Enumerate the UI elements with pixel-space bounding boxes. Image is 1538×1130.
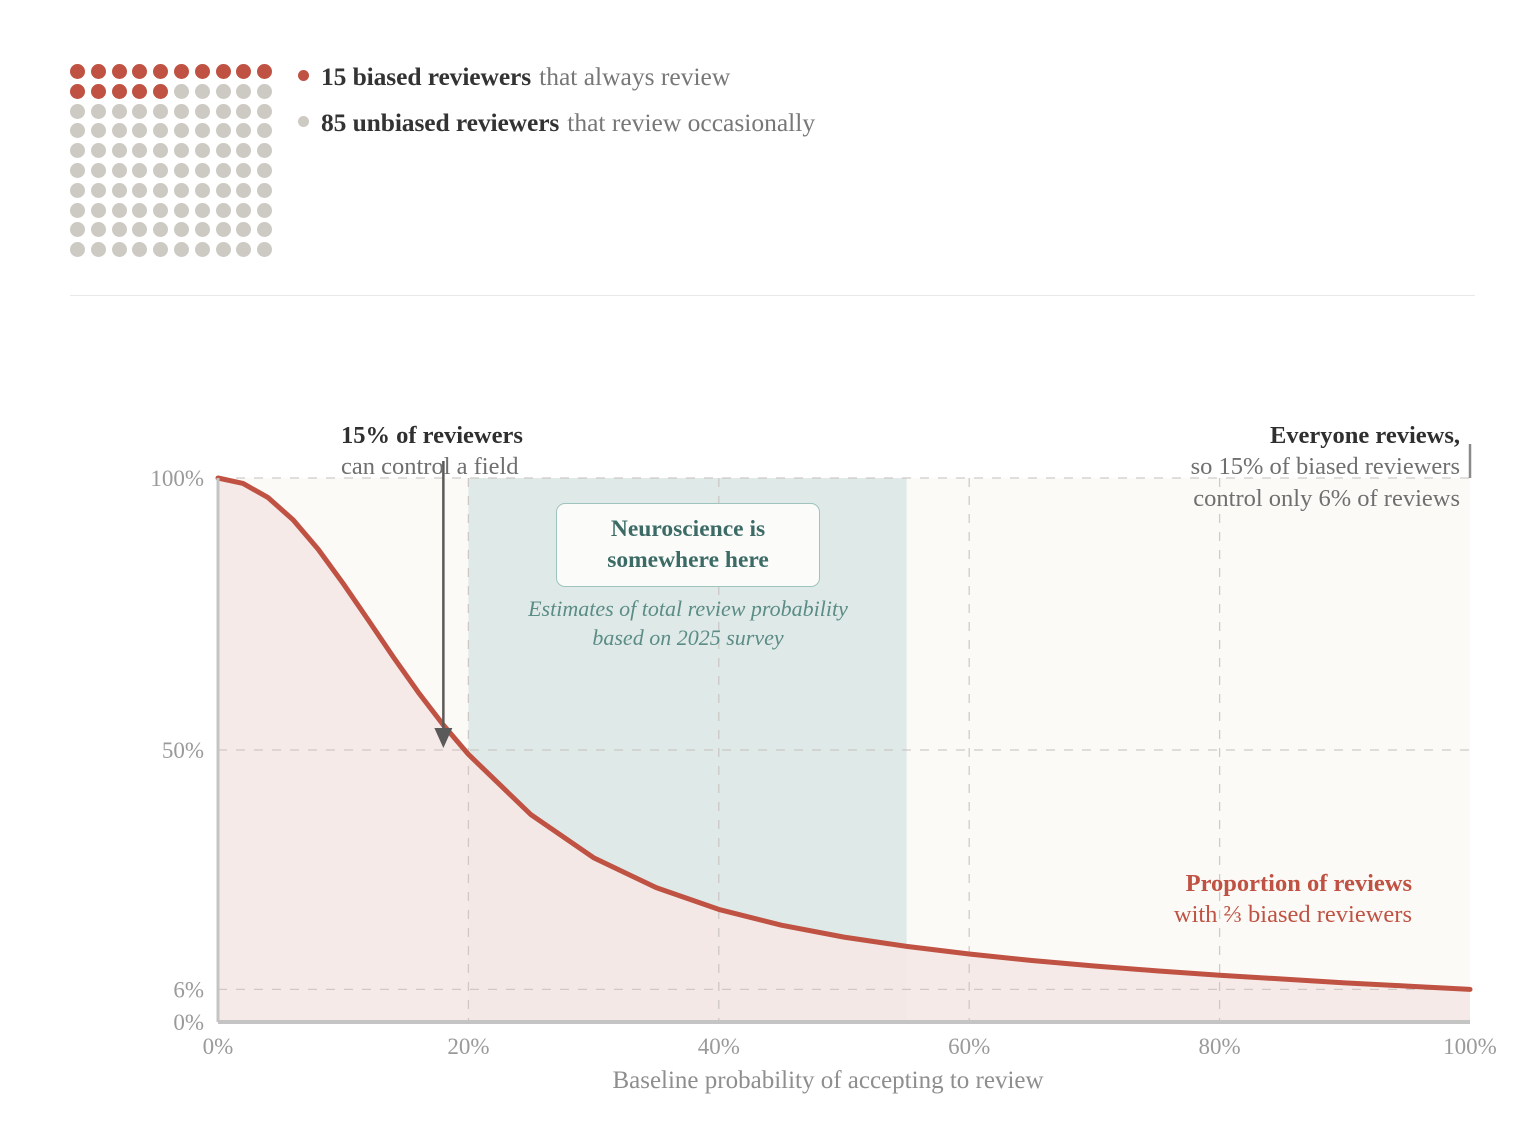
annotation-fifteen-percent: 15% of reviewers can control a field bbox=[341, 420, 523, 483]
annotation-series-label-line2: with ⅔ biased reviewers bbox=[1174, 899, 1412, 930]
y-tick-label-50%: 50% bbox=[162, 738, 204, 763]
annotation-series-label: Proportion of reviews with ⅔ biased revi… bbox=[1174, 868, 1412, 931]
neuroscience-callout-line2: somewhere here bbox=[607, 545, 769, 576]
y-tick-label-100%: 100% bbox=[150, 466, 204, 491]
neuroscience-callout-subtitle: Estimates of total review probability ba… bbox=[460, 594, 916, 652]
annotation-series-label-line1: Proportion of reviews bbox=[1174, 868, 1412, 899]
y-tick-label-6%: 6% bbox=[173, 977, 204, 1002]
x-axis-title: Baseline probability of accepting to rev… bbox=[612, 1067, 1043, 1094]
annotation-everyone-reviews-line1: Everyone reviews, bbox=[1191, 420, 1460, 451]
neuroscience-callout-line1: Neuroscience is bbox=[611, 514, 765, 545]
x-tick-label-40%: 40% bbox=[698, 1034, 740, 1059]
y-tick-label-0%: 0% bbox=[173, 1010, 204, 1035]
neuroscience-callout-subtitle-line2: based on 2025 survey bbox=[460, 623, 916, 652]
annotation-fifteen-percent-line2: can control a field bbox=[341, 451, 523, 482]
x-tick-label-80%: 80% bbox=[1199, 1034, 1241, 1059]
x-tick-label-100%: 100% bbox=[1443, 1034, 1497, 1059]
annotation-fifteen-percent-line1: 15% of reviewers bbox=[341, 420, 523, 451]
x-tick-label-0%: 0% bbox=[203, 1034, 234, 1059]
x-tick-label-20%: 20% bbox=[447, 1034, 489, 1059]
neuroscience-callout-box: Neuroscience is somewhere here bbox=[556, 503, 820, 587]
annotation-everyone-reviews: Everyone reviews, so 15% of biased revie… bbox=[1191, 420, 1460, 514]
annotation-everyone-reviews-line2: so 15% of biased reviewers bbox=[1191, 451, 1460, 482]
annotation-everyone-reviews-line3: control only 6% of reviews bbox=[1191, 483, 1460, 514]
x-tick-label-60%: 60% bbox=[948, 1034, 990, 1059]
neuroscience-callout-subtitle-line1: Estimates of total review probability bbox=[460, 594, 916, 623]
